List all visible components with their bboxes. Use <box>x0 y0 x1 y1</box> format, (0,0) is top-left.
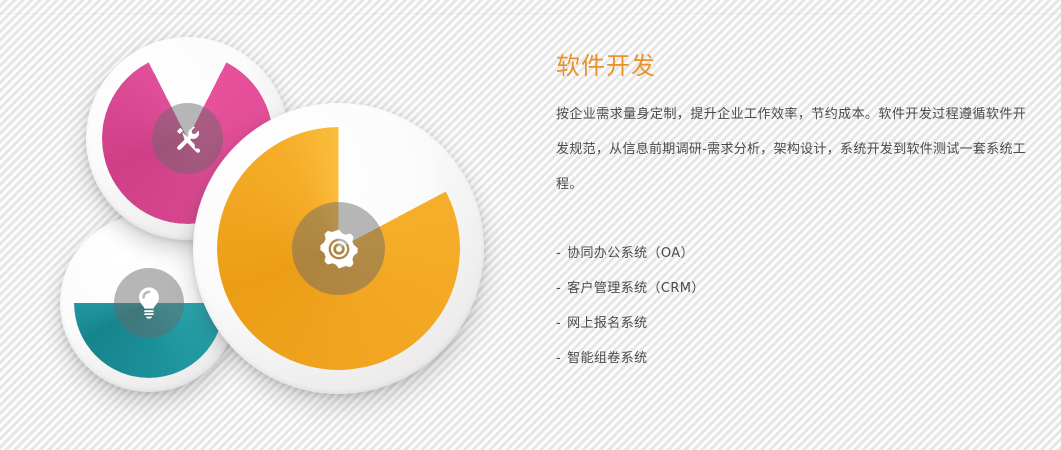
list-item: -智能组卷系统 <box>556 341 1026 376</box>
bullet-dash: - <box>556 246 561 261</box>
bullet-dash: - <box>556 351 561 366</box>
lightbulb-icon <box>134 286 164 320</box>
list-item-label: 协同办公系统（OA） <box>567 246 694 261</box>
wrench-screwdriver-icon <box>171 122 205 156</box>
intro-paragraph: 按企业需求量身定制，提升企业工作效率，节约成本。软件开发过程遵循软件开发规范，从… <box>556 97 1026 202</box>
copy-column: 软件开发 按企业需求量身定制，提升企业工作效率，节约成本。软件开发过程遵循软件开… <box>556 52 1026 376</box>
bullet-dash: - <box>556 316 561 331</box>
list-item-label: 网上报名系统 <box>567 316 647 331</box>
list-item: -客户管理系统（CRM） <box>556 271 1026 306</box>
list-item: -协同办公系统（OA） <box>556 236 1026 271</box>
bullet-dash: - <box>556 281 561 296</box>
gear-icon <box>316 226 362 272</box>
list-item-label: 智能组卷系统 <box>567 351 647 366</box>
service-disc-orange[interactable] <box>193 103 484 394</box>
list-item: -网上报名系统 <box>556 306 1026 341</box>
product-list: -协同办公系统（OA） -客户管理系统（CRM） -网上报名系统 -智能组卷系统 <box>556 236 1026 376</box>
list-item-label: 客户管理系统（CRM） <box>567 281 705 296</box>
page-title: 软件开发 <box>556 52 1026 81</box>
lightbulb-hub <box>114 268 184 338</box>
wrench-screwdriver-hub <box>152 103 223 174</box>
service-illustration <box>60 18 500 418</box>
page-stage: 软件开发 按企业需求量身定制，提升企业工作效率，节约成本。软件开发过程遵循软件开… <box>0 0 1061 450</box>
top-divider <box>0 13 1061 14</box>
gear-hub <box>292 202 385 295</box>
